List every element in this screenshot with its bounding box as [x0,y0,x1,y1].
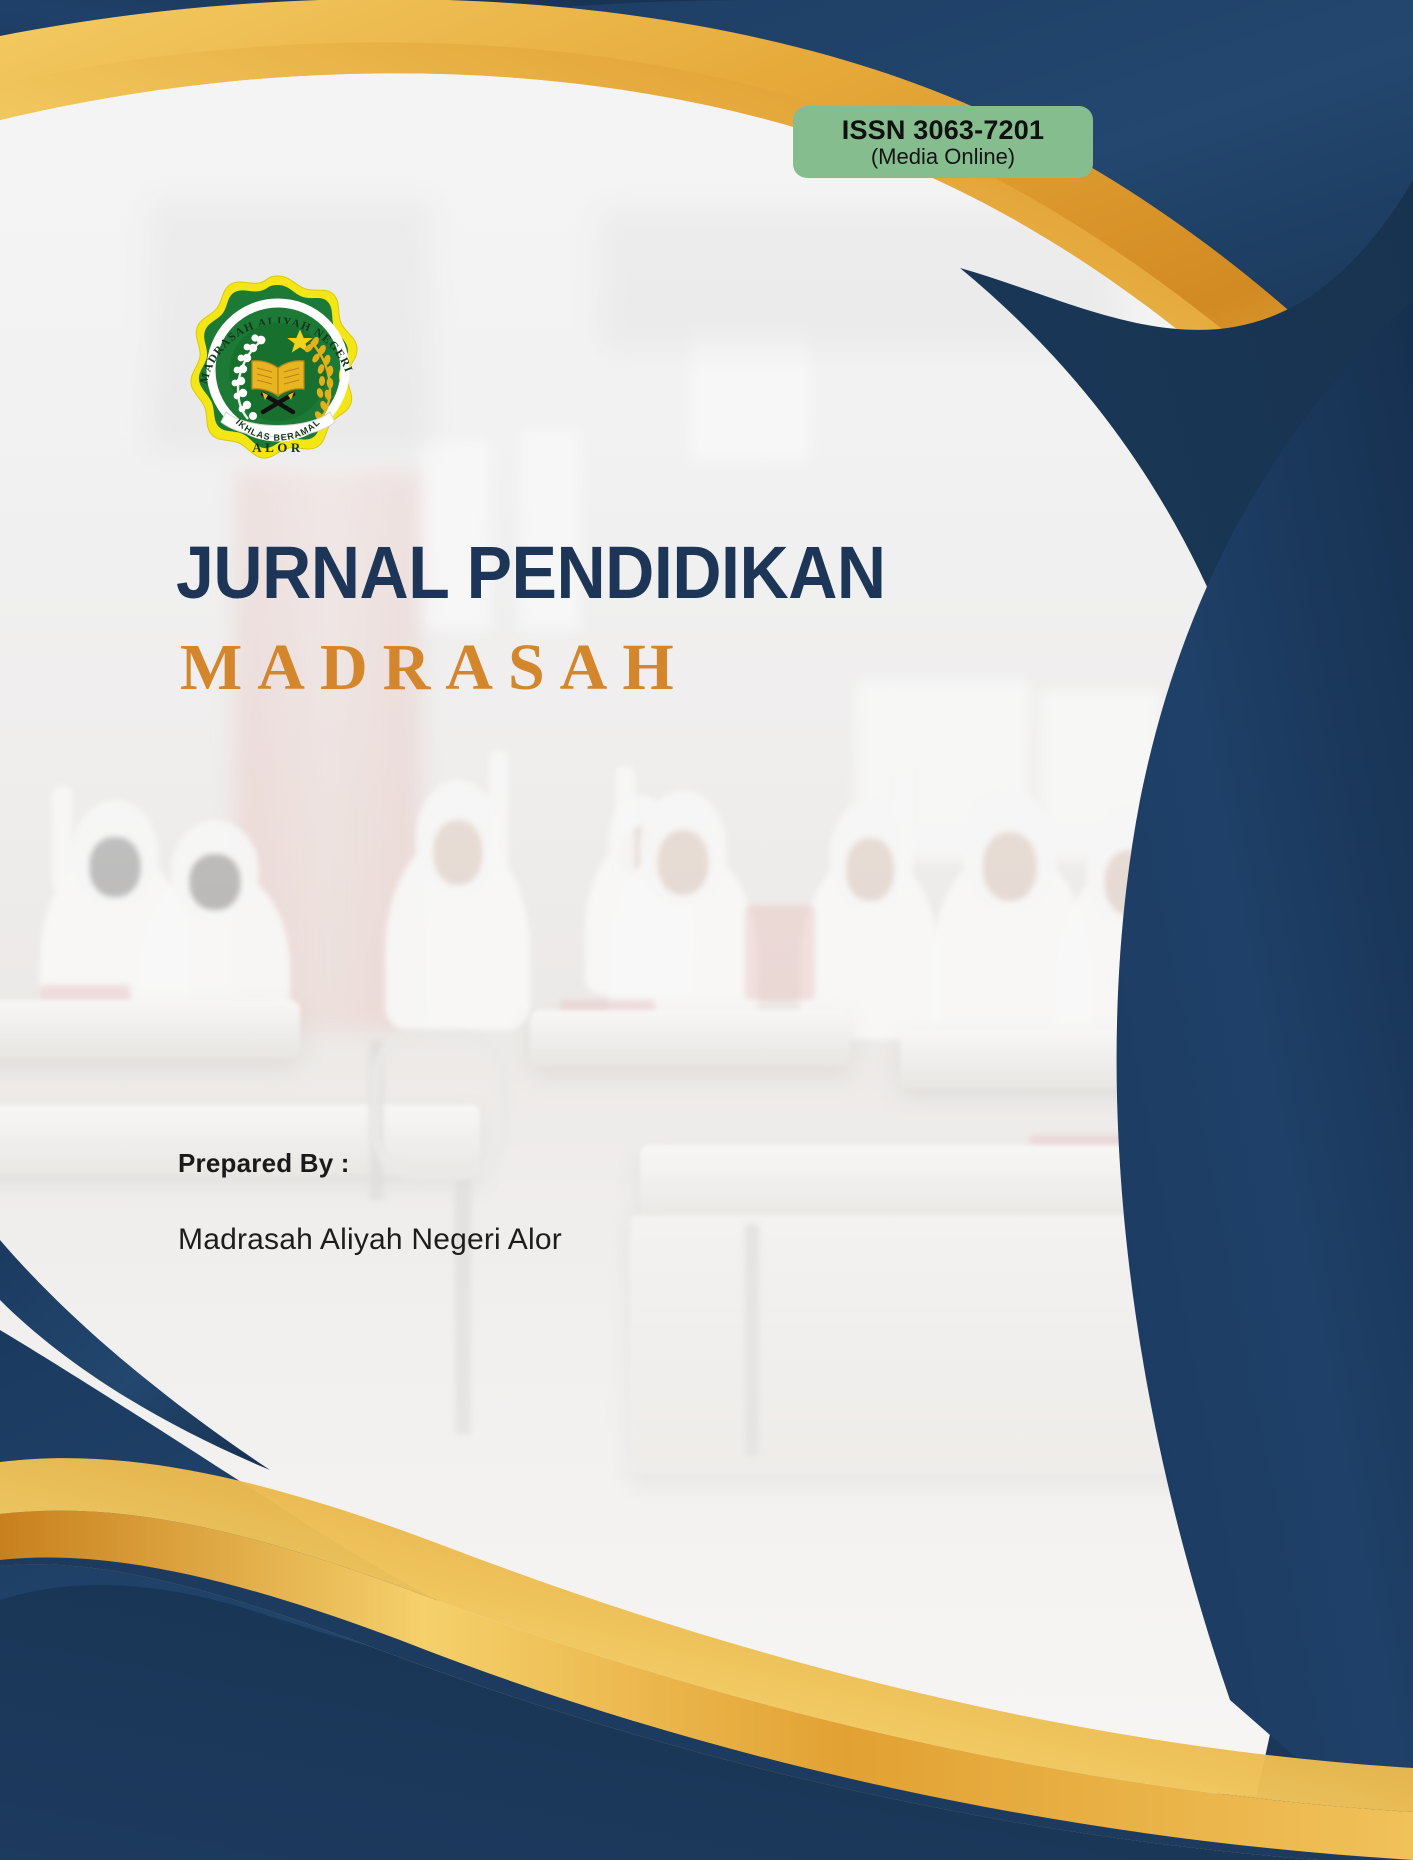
prepared-by-label: Prepared By : [178,1148,350,1179]
logo-bottom-text: ALOR [252,440,304,455]
issn-media-type: (Media Online) [871,145,1015,168]
man-alor-logo: MADRASAH ALIYAH NEGERI 1 [178,272,378,462]
journal-title-line1: JURNAL PENDIDIKAN [176,536,691,610]
journal-title-line2: MADRASAH [180,635,800,701]
prepared-by-value: Madrasah Aliyah Negeri Alor [178,1223,562,1257]
issn-badge: ISSN 3063-7201 (Media Online) [793,106,1093,178]
journal-cover: ISSN 3063-7201 (Media Online) [0,0,1413,1860]
issn-number: ISSN 3063-7201 [842,116,1044,144]
